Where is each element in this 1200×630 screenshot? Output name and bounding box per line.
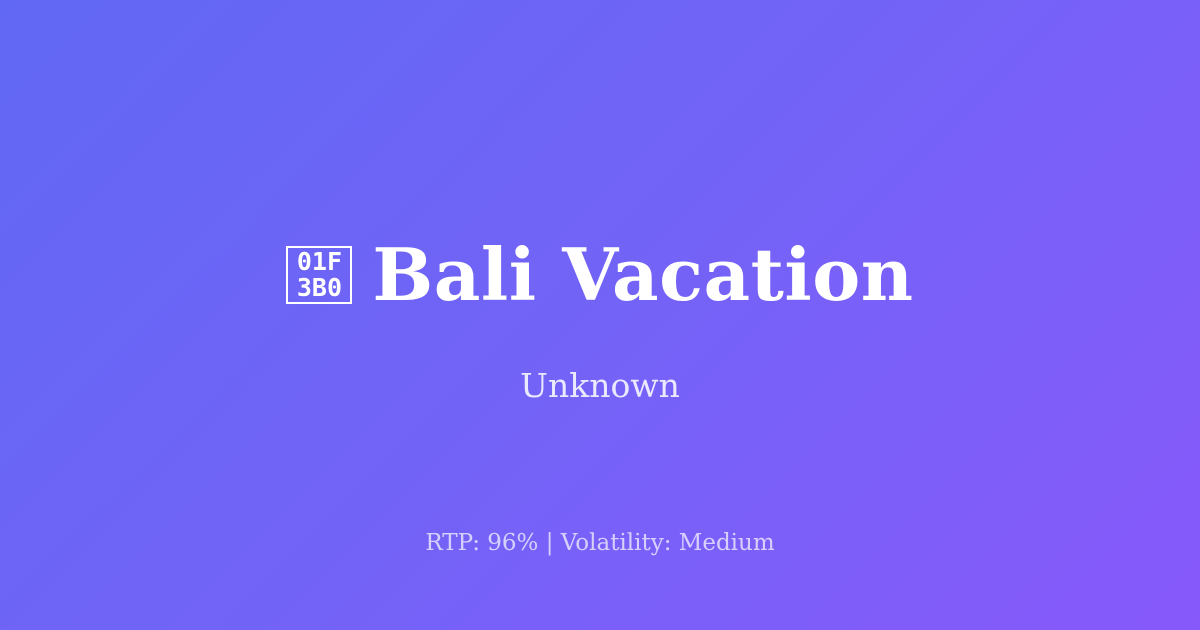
game-title: Bali Vacation <box>372 232 913 318</box>
game-meta-line: RTP: 96% | Volatility: Medium <box>0 527 1200 559</box>
codepoint-top: 01F <box>297 249 342 275</box>
title-row: 01F 3B0 Bali Vacation <box>0 232 1200 318</box>
game-provider: Unknown <box>0 364 1200 408</box>
game-promo-card: 01F 3B0 Bali Vacation Unknown RTP: 96% |… <box>0 0 1200 630</box>
slot-machine-icon: 01F 3B0 <box>286 246 352 304</box>
codepoint-bottom: 3B0 <box>297 275 342 301</box>
